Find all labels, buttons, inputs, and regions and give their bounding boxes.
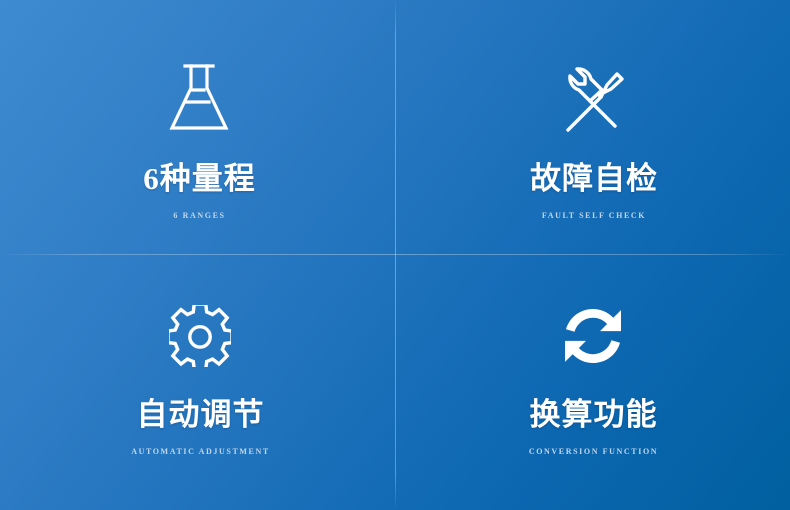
- feature-cell-auto[interactable]: 自动调节 AUTOMATIC ADJUSTMENT: [0, 255, 395, 510]
- feature-title: 自动调节: [137, 399, 265, 430]
- refresh-arrows-icon: [562, 305, 624, 367]
- feature-cell-conversion[interactable]: 换算功能 CONVERSION FUNCTION: [395, 255, 790, 510]
- gear-icon: [169, 305, 231, 367]
- feature-title: 6种量程: [143, 163, 256, 194]
- feature-title: 故障自检: [530, 163, 658, 194]
- feature-cell-fault[interactable]: 故障自检 FAULT SELF CHECK: [395, 0, 790, 255]
- feature-subtitle: AUTOMATIC ADJUSTMENT: [131, 448, 270, 456]
- feature-cell-ranges[interactable]: 6种量程 6 RANGES: [0, 0, 395, 255]
- feature-grid: 6种量程 6 RANGES 故障自检 FAULT SELF CHECK: [0, 0, 790, 510]
- feature-subtitle: 6 RANGES: [173, 212, 225, 220]
- feature-row-bottom: 自动调节 AUTOMATIC ADJUSTMENT 换算功能 CONVERSIO…: [0, 255, 790, 510]
- feature-subtitle: CONVERSION FUNCTION: [529, 448, 658, 456]
- wrench-screwdriver-icon: [560, 62, 626, 134]
- feature-title: 换算功能: [530, 399, 658, 430]
- flask-icon: [168, 62, 230, 134]
- feature-row-top: 6种量程 6 RANGES 故障自检 FAULT SELF CHECK: [0, 0, 790, 255]
- feature-subtitle: FAULT SELF CHECK: [542, 212, 646, 220]
